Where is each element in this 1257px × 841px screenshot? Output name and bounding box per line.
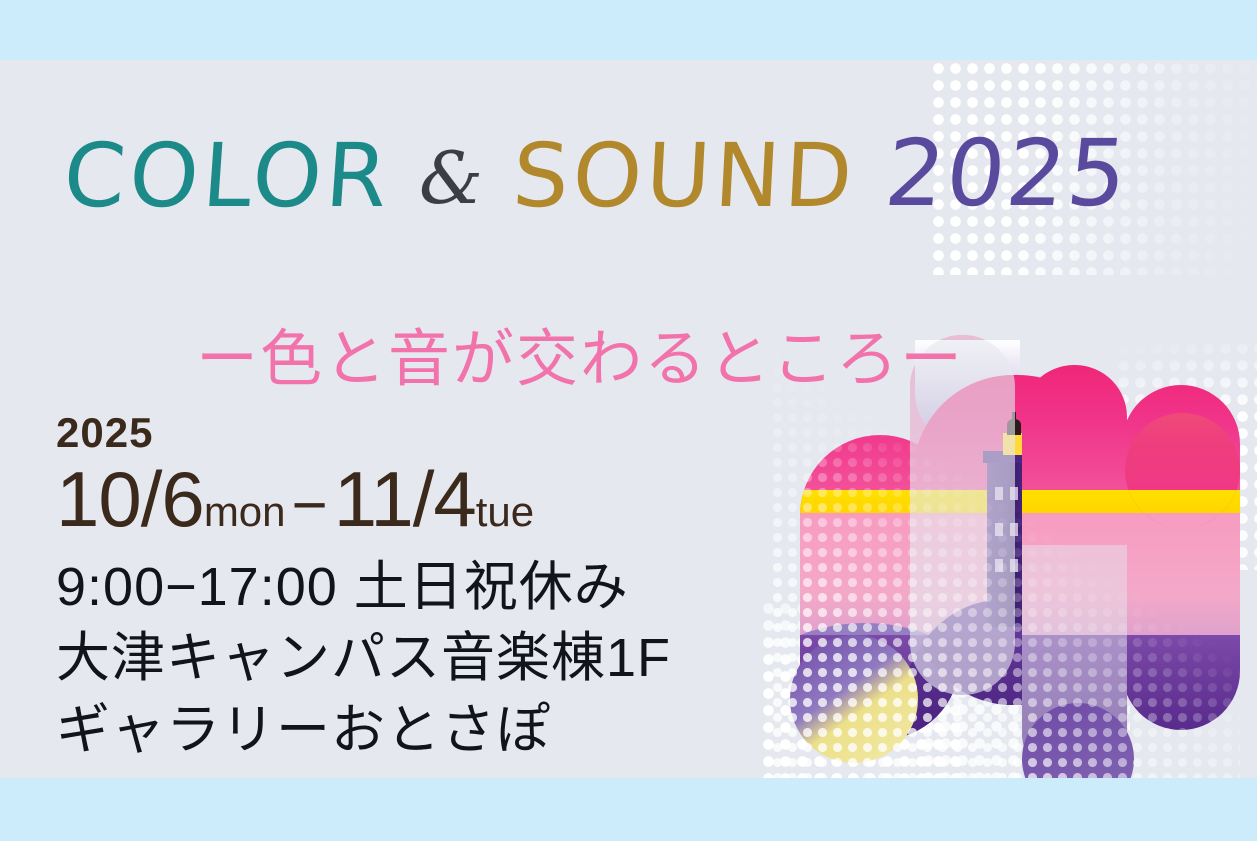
event-gallery: ギャラリーおとさぽ xyxy=(56,695,671,766)
event-year: 2025 xyxy=(56,412,671,454)
start-date: 10/6 xyxy=(56,460,204,538)
end-date: 11/4 xyxy=(334,460,476,538)
poster: COLOR & SOUND 2025 ー色と音が交わるところー 2025 10/… xyxy=(0,0,1257,841)
headline-ampersand: & xyxy=(419,142,487,214)
art-circle-yellow xyxy=(790,635,918,763)
event-venue: 大津キャンパス音楽棟1F xyxy=(56,623,671,694)
headline-word-color: COLOR xyxy=(61,132,394,220)
event-hours: 9:00−17:00 土日祝休み xyxy=(56,552,671,623)
poster-canvas: COLOR & SOUND 2025 ー色と音が交わるところー 2025 10/… xyxy=(0,60,1257,778)
end-day: tue xyxy=(476,491,534,533)
top-band xyxy=(0,0,1257,60)
subtitle: ー色と音が交わるところー xyxy=(196,308,964,398)
art-circle-sunset xyxy=(1125,413,1240,528)
event-date-range: 10/6 mon − 11/4 tue xyxy=(56,460,671,538)
artwork-lighthouse xyxy=(770,335,1240,778)
bottom-band xyxy=(0,778,1257,841)
event-info: 2025 10/6 mon − 11/4 tue 9:00−17:00 土日祝休… xyxy=(56,412,671,766)
headline-year: 2025 xyxy=(881,128,1133,220)
headline-word-sound: SOUND xyxy=(511,132,859,220)
headline: COLOR & SOUND 2025 xyxy=(64,100,1128,220)
date-dash: − xyxy=(292,475,328,537)
start-day: mon xyxy=(204,491,286,533)
